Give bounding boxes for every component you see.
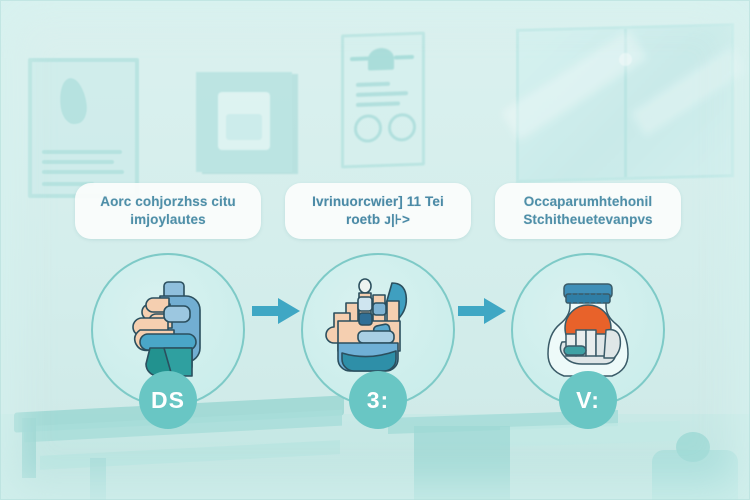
connector-arrow-2: [458, 298, 506, 324]
steps-row: Aorc cohjorzhss citu imjoylautes: [0, 0, 750, 500]
step-1-badge: DS: [139, 371, 197, 429]
therapy-putty-jar-with-hand-icon: [536, 276, 640, 384]
step-3-label-pill: Occaparumhtehonil Stchitheuetevanpvs: [495, 183, 681, 239]
arrow-right-icon: [252, 298, 300, 324]
step-3[interactable]: Occaparumhtehonil Stchitheuetevanpvs: [478, 183, 698, 407]
step-3-badge: V:: [559, 371, 617, 429]
step-3-label: Occaparumhtehonil Stchitheuetevanpvs: [505, 193, 671, 229]
hand-with-wrist-splint-icon: [120, 278, 216, 382]
step-1-label-pill: Aorc cohjorzhss citu imjoylautes: [75, 183, 261, 239]
step-2[interactable]: Ivrinuorcwier] 11 Tei roetb ᴊ|⊦>: [268, 183, 488, 407]
step-2-label-pill: Ivrinuorcwier] 11 Tei roetb ᴊ|⊦>: [285, 183, 471, 239]
connector-arrow-1: [252, 298, 300, 324]
step-1-label: Aorc cohjorzhss citu imjoylautes: [85, 193, 251, 229]
hand-with-finger-splints-icon: [328, 277, 428, 383]
arrow-right-icon: [458, 298, 506, 324]
infographic-canvas: Aorc cohjorzhss citu imjoylautes: [0, 0, 750, 500]
step-2-badge: 3:: [349, 371, 407, 429]
step-2-label: Ivrinuorcwier] 11 Tei roetb ᴊ|⊦>: [295, 193, 461, 229]
step-1[interactable]: Aorc cohjorzhss citu imjoylautes: [58, 183, 278, 407]
